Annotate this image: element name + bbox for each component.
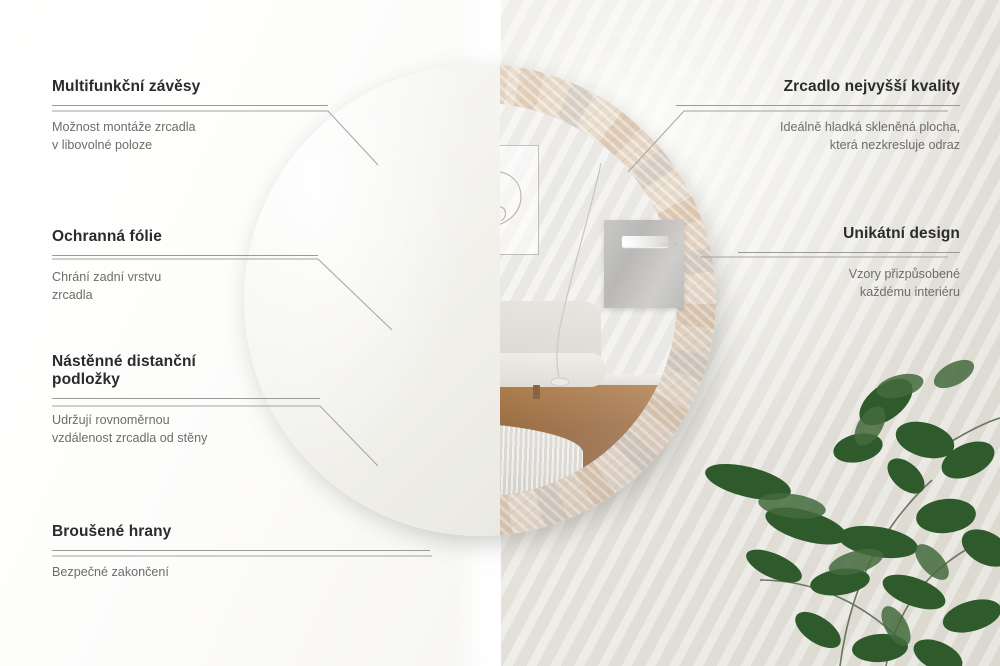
infographic-stage: Multifunkční závěsy Možnost montáže zrca… (0, 0, 1000, 666)
callout-ochranna-folie: Ochranná fólie Chrání zadní vrstvu zrcad… (52, 228, 318, 305)
callout-body-line: zrcadla (52, 288, 93, 302)
callout-multifunkcni-zavesy: Multifunkční závěsy Možnost montáže zrca… (52, 78, 328, 155)
callout-body-line: každému interiéru (860, 285, 960, 299)
hanger-bracket-slot-secondary (626, 242, 678, 246)
callout-brousene-hrany: Broušené hrany Bezpečné zakončení (52, 523, 430, 582)
callout-title: Ochranná fólie (52, 228, 318, 246)
callout-rule (52, 105, 328, 106)
callout-body-line: Vzory přizpůsobené (849, 267, 960, 281)
callout-title: Zrcadlo nejvyšší kvality (676, 78, 960, 96)
callout-title: Nástěnné distanční podložky (52, 353, 320, 389)
callout-rule (738, 252, 960, 253)
callout-body-line: v libovolné poloze (52, 138, 152, 152)
callout-zrcadlo-nejvyssi-kvality: Zrcadlo nejvyšší kvality Ideálně hladká … (676, 78, 960, 155)
callout-body: Možnost montáže zrcadla v libovolné polo… (52, 119, 328, 155)
callout-body: Ideálně hladká skleněná plocha, která ne… (676, 119, 960, 155)
callout-rule (52, 398, 320, 399)
hanger-bracket (604, 220, 684, 308)
callout-nastenne-distancni-podlozky: Nástěnné distanční podložky Udržují rovn… (52, 353, 320, 448)
callout-body-line: Ideálně hladká skleněná plocha, (780, 120, 960, 134)
callout-body-line: která nezkresluje odraz (830, 138, 960, 152)
callout-body-line: vzdálenost zrcadla od stěny (52, 431, 207, 445)
callout-body-line: Udržují rovnoměrnou (52, 413, 170, 427)
callout-rule (676, 105, 960, 106)
callout-body-line: Chrání zadní vrstvu (52, 270, 161, 284)
callout-title: Unikátní design (738, 225, 960, 243)
callout-title-line: Nástěnné distanční (52, 353, 196, 370)
callout-body-line: Možnost montáže zrcadla (52, 120, 196, 134)
callout-rule (52, 255, 318, 256)
callout-body: Bezpečné zakončení (52, 564, 430, 582)
callout-body: Vzory přizpůsobené každému interiéru (738, 266, 960, 302)
wall-spacer-pad (619, 523, 641, 536)
callout-title: Multifunkční závěsy (52, 78, 328, 96)
callout-body: Udržují rovnoměrnou vzdálenost zrcadla o… (52, 412, 320, 448)
callout-rule (52, 550, 430, 551)
callout-title: Broušené hrany (52, 523, 430, 541)
callout-title-line: podložky (52, 371, 120, 388)
decorative-plant (700, 330, 1000, 666)
callout-unikatni-design: Unikátní design Vzory přizpůsobené každé… (738, 225, 960, 302)
callout-body: Chrání zadní vrstvu zrcadla (52, 269, 318, 305)
